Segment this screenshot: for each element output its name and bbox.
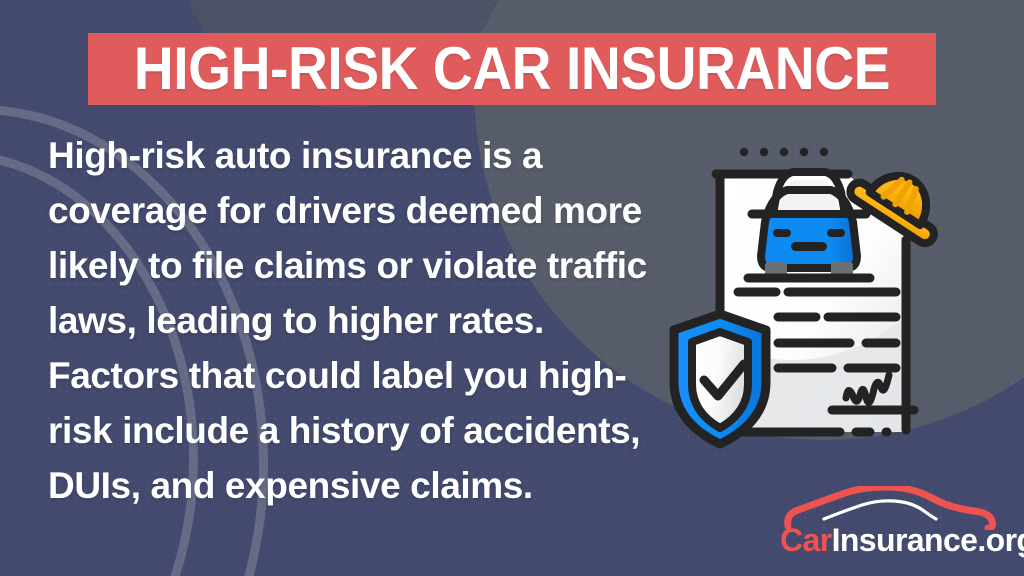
brand-logo[interactable]: CarInsurance.org xyxy=(780,486,1002,560)
logo-wordmark: CarInsurance.org xyxy=(780,524,1002,556)
infographic-card: HIGH-RISK CAR INSURANCE High-risk auto i… xyxy=(0,0,1024,576)
decorative-dots-icon xyxy=(740,148,828,156)
page-title: HIGH-RISK CAR INSURANCE xyxy=(134,39,890,99)
body-paragraph: High-risk auto insurance is a coverage f… xyxy=(48,128,658,513)
logo-word-car: Car xyxy=(780,522,832,558)
insurance-policy-illustration xyxy=(660,132,1000,477)
logo-word-insurance-org: Insurance.org xyxy=(832,522,1024,558)
title-banner: HIGH-RISK CAR INSURANCE xyxy=(88,33,936,105)
shield-check-icon xyxy=(674,314,766,444)
